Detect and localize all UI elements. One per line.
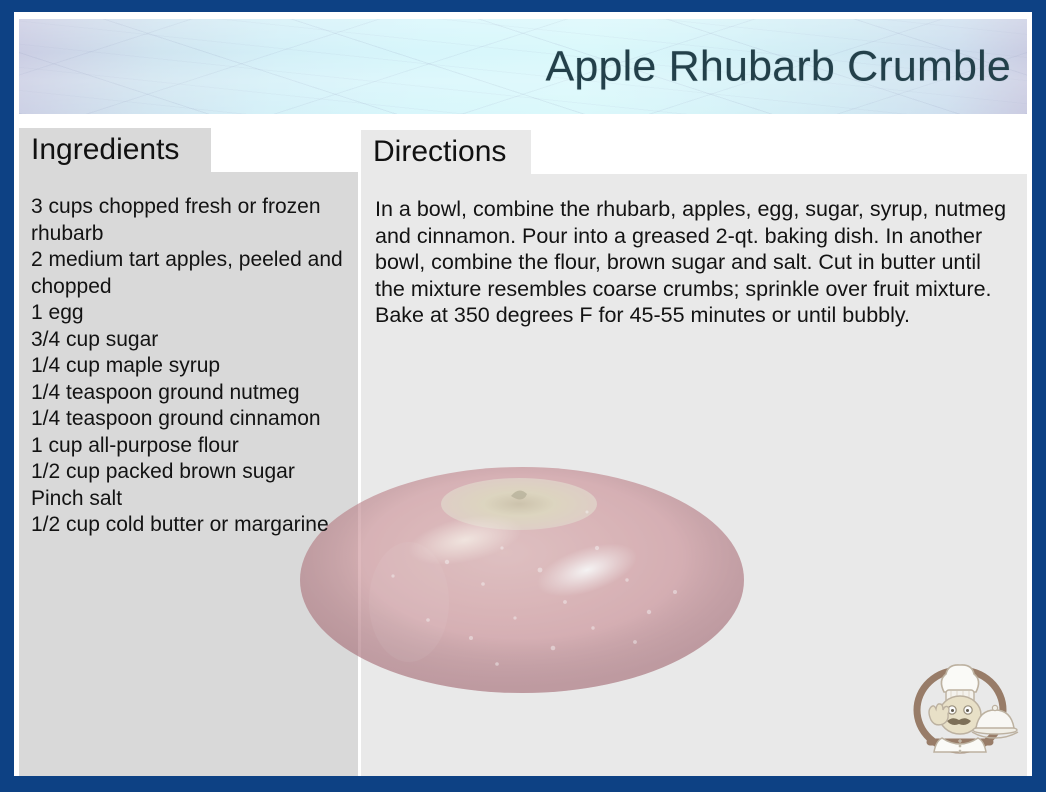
- directions-body-text: In a bowl, combine the rhubarb, apples, …: [375, 196, 1011, 329]
- page-title: Apple Rhubarb Crumble: [545, 42, 1011, 91]
- ingredient-item: 1 egg: [31, 300, 346, 327]
- directions-heading-label: Directions: [373, 137, 506, 167]
- section-header-ingredients: Ingredients: [19, 128, 211, 172]
- ingredient-item: 1/4 teaspoon ground cinnamon: [31, 406, 346, 433]
- slide-content-area: Apple Rhubarb Crumble Ingredients Direct…: [14, 12, 1032, 776]
- recipe-slide: Apple Rhubarb Crumble Ingredients Direct…: [0, 0, 1046, 792]
- ingredient-item: 3 cups chopped fresh or frozen rhubarb: [31, 194, 346, 247]
- ingredient-item: 1 cup all-purpose flour: [31, 433, 346, 460]
- ingredient-item: 1/4 teaspoon ground nutmeg: [31, 380, 346, 407]
- ingredients-list: 3 cups chopped fresh or frozen rhubarb2 …: [31, 194, 346, 539]
- ingredient-item: 1/2 cup packed brown sugar: [31, 459, 346, 486]
- ingredients-heading-label: Ingredients: [31, 135, 179, 165]
- ingredient-item: 1/2 cup cold butter or margarine: [31, 512, 346, 539]
- ingredients-panel: 3 cups chopped fresh or frozen rhubarb2 …: [19, 172, 358, 776]
- header-banner: Apple Rhubarb Crumble: [19, 19, 1027, 114]
- section-header-directions: Directions: [361, 130, 531, 174]
- ingredient-item: 2 medium tart apples, peeled and chopped: [31, 247, 346, 300]
- ingredient-item: 1/4 cup maple syrup: [31, 353, 346, 380]
- chef-mascot-icon: [900, 642, 1020, 762]
- ingredient-item: Pinch salt: [31, 486, 346, 513]
- ingredient-item: 3/4 cup sugar: [31, 327, 346, 354]
